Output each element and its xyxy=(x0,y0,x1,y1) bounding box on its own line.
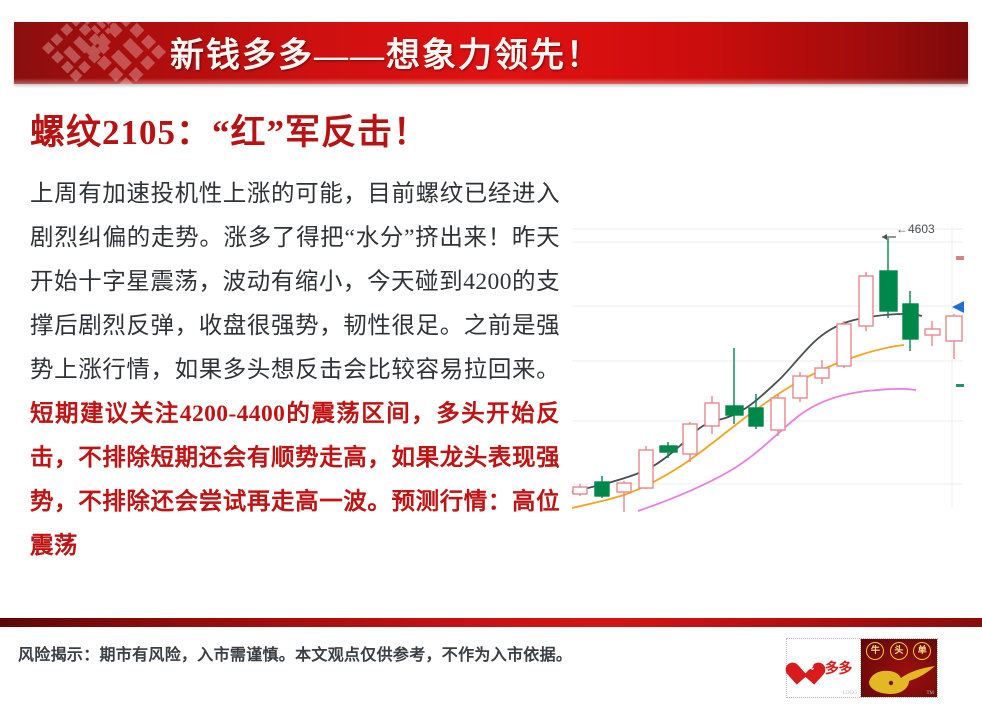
candle-14 xyxy=(859,272,873,331)
brand-logo[interactable]: 钱 多多 LOGO 牛 头 单 TM xyxy=(786,638,938,698)
candlestick-chart-svg xyxy=(560,196,975,526)
niutoudan-logo: 牛 头 单 TM xyxy=(861,639,937,697)
candle-13 xyxy=(837,321,851,368)
price-marker-red-icon xyxy=(956,256,964,260)
candle-11 xyxy=(793,372,807,402)
qianduoduo-logo: 钱 多多 LOGO xyxy=(787,639,861,697)
slide-page: 新钱多多——想象力领先！ 螺纹2105：“红”军反击！ 上周有加速投机性上涨的可… xyxy=(0,0,982,720)
niutoudan-char-3: 单 xyxy=(913,642,931,660)
candle-4 xyxy=(639,446,653,489)
footer-divider xyxy=(0,618,982,627)
header-title: 新钱多多——想象力领先！ xyxy=(170,28,602,77)
article-body: 上周有加速投机性上涨的可能，目前螺纹已经进入剧烈纠偏的走势。涨多了得把“水分”挤… xyxy=(30,172,560,568)
article-paragraph-black: 上周有加速投机性上涨的可能，目前螺纹已经进入剧烈纠偏的走势。涨多了得把“水分”挤… xyxy=(30,181,560,383)
candle-10 xyxy=(771,394,785,436)
logo-corner-mark-right: TM xyxy=(927,691,935,696)
heart-icon: 钱 xyxy=(795,655,823,681)
chinese-knot-icon xyxy=(30,22,170,84)
page-title: 螺纹2105：“红”军反击！ xyxy=(30,104,429,155)
niutoudan-chars: 牛 头 单 xyxy=(861,642,937,660)
niutoudan-char-1: 牛 xyxy=(866,642,884,660)
niutoudan-char-2: 头 xyxy=(890,642,908,660)
chart-annotation-label: ←4603 xyxy=(896,222,935,236)
candlestick-chart[interactable]: ←4603 xyxy=(560,196,975,526)
header-banner: 新钱多多——想象力领先！ xyxy=(14,22,968,84)
article-paragraph-highlight: 短期建议关注4200-4400的震荡区间，多头开始反击，不排除短期还会有顺势走高… xyxy=(30,401,560,559)
risk-disclaimer: 风险揭示：期市有风险，入市需谨慎。本文观点仅供参考，不作为入市依据。 xyxy=(18,641,572,665)
price-marker-green-icon xyxy=(956,384,964,387)
logo-corner-mark: LOGO xyxy=(843,691,857,696)
qianduoduo-text: 多多 xyxy=(825,658,852,678)
heart-char: 钱 xyxy=(795,662,823,672)
